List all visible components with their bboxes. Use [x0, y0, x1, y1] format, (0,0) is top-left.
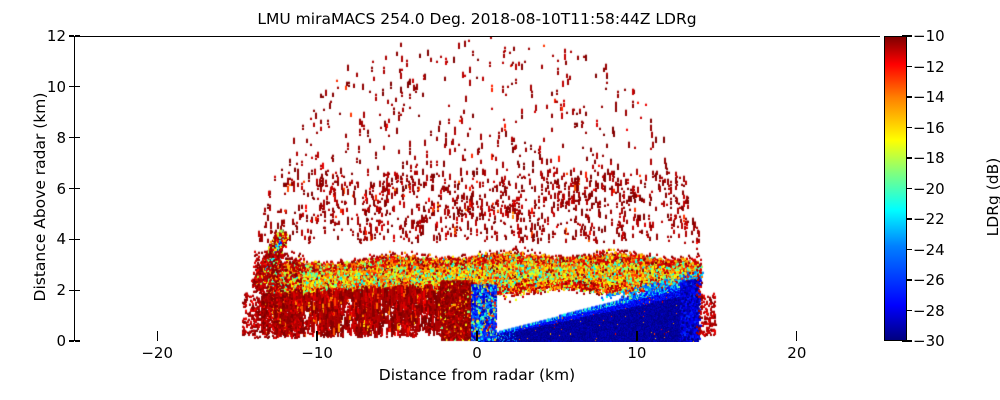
- y-tick-mark: [75, 239, 80, 240]
- x-tick-mark: [636, 336, 637, 341]
- x-tick-mark: [476, 336, 477, 341]
- colorbar-tick-label: −14: [913, 88, 945, 106]
- x-tick-mark: [157, 331, 158, 336]
- x-tick-mark: [316, 331, 317, 336]
- plot-axes: [74, 36, 880, 341]
- x-tick-mark: [796, 336, 797, 341]
- y-tick-label: 2: [56, 281, 66, 299]
- x-tick-label: −10: [301, 344, 333, 362]
- colorbar-label: LDRg (dB): [984, 82, 1000, 312]
- x-tick-mark: [316, 336, 317, 341]
- colorbar-tick-mark: [907, 249, 912, 250]
- colorbar-tick-label: −16: [913, 119, 945, 137]
- x-axis-label: Distance from radar (km): [74, 366, 880, 384]
- y-tick-mark: [69, 35, 74, 36]
- y-tick-label: 6: [56, 180, 66, 198]
- x-tick-label: 10: [627, 344, 646, 362]
- y-axis-label: Distance Above radar (km): [31, 37, 49, 357]
- colorbar-tick-label: −26: [913, 271, 945, 289]
- x-tick-mark: [157, 336, 158, 341]
- y-tick-mark: [75, 35, 80, 36]
- y-tick-mark: [69, 188, 74, 189]
- x-tick-label: −20: [141, 344, 173, 362]
- x-tick-mark: [476, 331, 477, 336]
- colorbar-tick-label: −12: [913, 58, 945, 76]
- y-tick-mark: [69, 290, 74, 291]
- colorbar-tick-label: −30: [913, 332, 945, 350]
- x-tick-label: 20: [787, 344, 806, 362]
- colorbar-tick-label: −28: [913, 302, 945, 320]
- y-tick-mark: [69, 340, 74, 341]
- page-title: LMU miraMACS 254.0 Deg. 2018-08-10T11:58…: [74, 10, 880, 28]
- colorbar-tick-mark: [907, 188, 912, 189]
- y-tick-mark: [75, 290, 80, 291]
- colorbar: [884, 36, 907, 341]
- x-tick-mark: [636, 331, 637, 336]
- colorbar-tick-mark: [907, 157, 912, 158]
- colorbar-tick-label: −24: [913, 241, 945, 259]
- y-tick-label: 10: [47, 78, 66, 96]
- y-tick-mark: [75, 137, 80, 138]
- colorbar-tick-label: −18: [913, 149, 945, 167]
- y-tick-mark: [69, 137, 74, 138]
- y-tick-mark: [69, 86, 74, 87]
- x-tick-label: 0: [472, 344, 482, 362]
- colorbar-tick-mark: [907, 127, 912, 128]
- colorbar-tick-mark: [907, 279, 912, 280]
- x-tick-mark: [796, 331, 797, 336]
- colorbar-tick-mark: [907, 96, 912, 97]
- radar-rhi-figure: LMU miraMACS 254.0 Deg. 2018-08-10T11:58…: [0, 0, 1000, 400]
- colorbar-tick-mark: [907, 66, 912, 67]
- y-tick-mark: [75, 188, 80, 189]
- y-tick-label: 8: [56, 129, 66, 147]
- colorbar-tick-label: −10: [913, 27, 945, 45]
- y-tick-mark: [75, 86, 80, 87]
- y-tick-label: 0: [56, 332, 66, 350]
- y-tick-mark: [69, 239, 74, 240]
- colorbar-tick-mark: [907, 340, 912, 341]
- y-tick-label: 12: [47, 27, 66, 45]
- y-tick-mark: [75, 340, 80, 341]
- colorbar-tick-mark: [907, 35, 912, 36]
- y-tick-label: 4: [56, 230, 66, 248]
- colorbar-tick-mark: [907, 218, 912, 219]
- colorbar-tick-label: −20: [913, 180, 945, 198]
- colorbar-tick-mark: [907, 310, 912, 311]
- colorbar-tick-label: −22: [913, 210, 945, 228]
- radar-data-canvas: [75, 37, 881, 342]
